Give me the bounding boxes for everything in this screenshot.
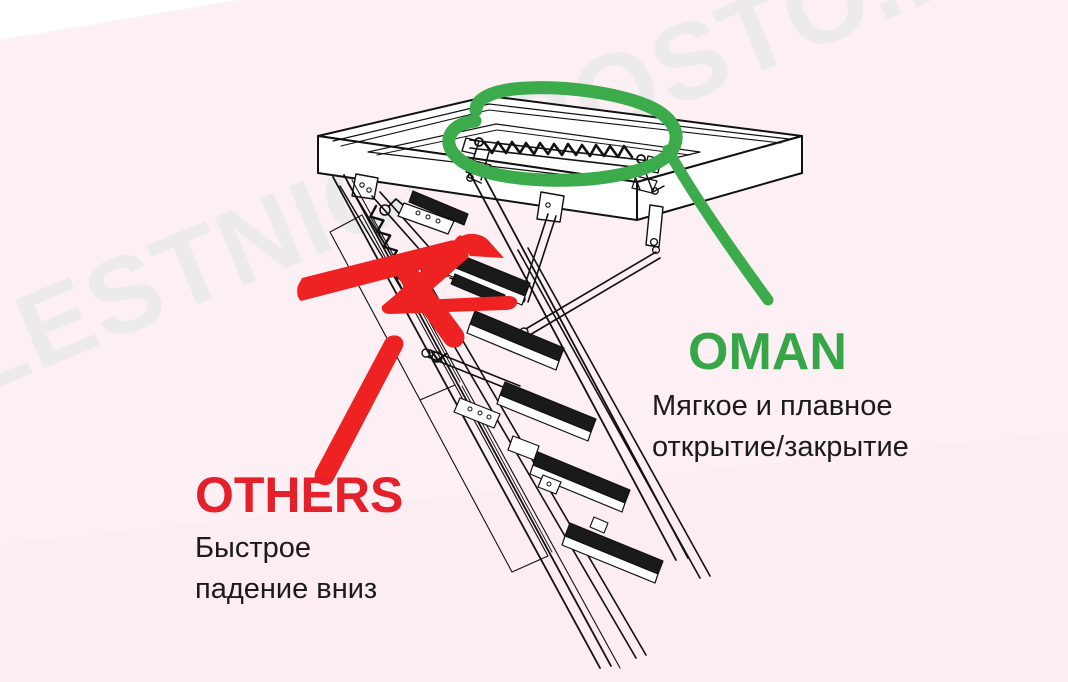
others-description-line2: падение вниз bbox=[195, 569, 595, 610]
callout-others: OTHERS Быстрое падение вниз bbox=[195, 470, 595, 610]
others-title: OTHERS bbox=[195, 470, 595, 520]
others-description-line1: Быстрое bbox=[195, 528, 595, 569]
oman-description-line2: открытие/закрытие bbox=[652, 427, 1040, 468]
promo-illustration-canvas: LESTNIC-PROSTO.RU bbox=[0, 0, 1068, 682]
callout-oman: OMAN Мягкое и плавное открытие/закрытие bbox=[650, 326, 1040, 468]
oman-description-line1: Мягкое и плавное bbox=[652, 386, 1040, 427]
oman-title: OMAN bbox=[688, 326, 1040, 378]
